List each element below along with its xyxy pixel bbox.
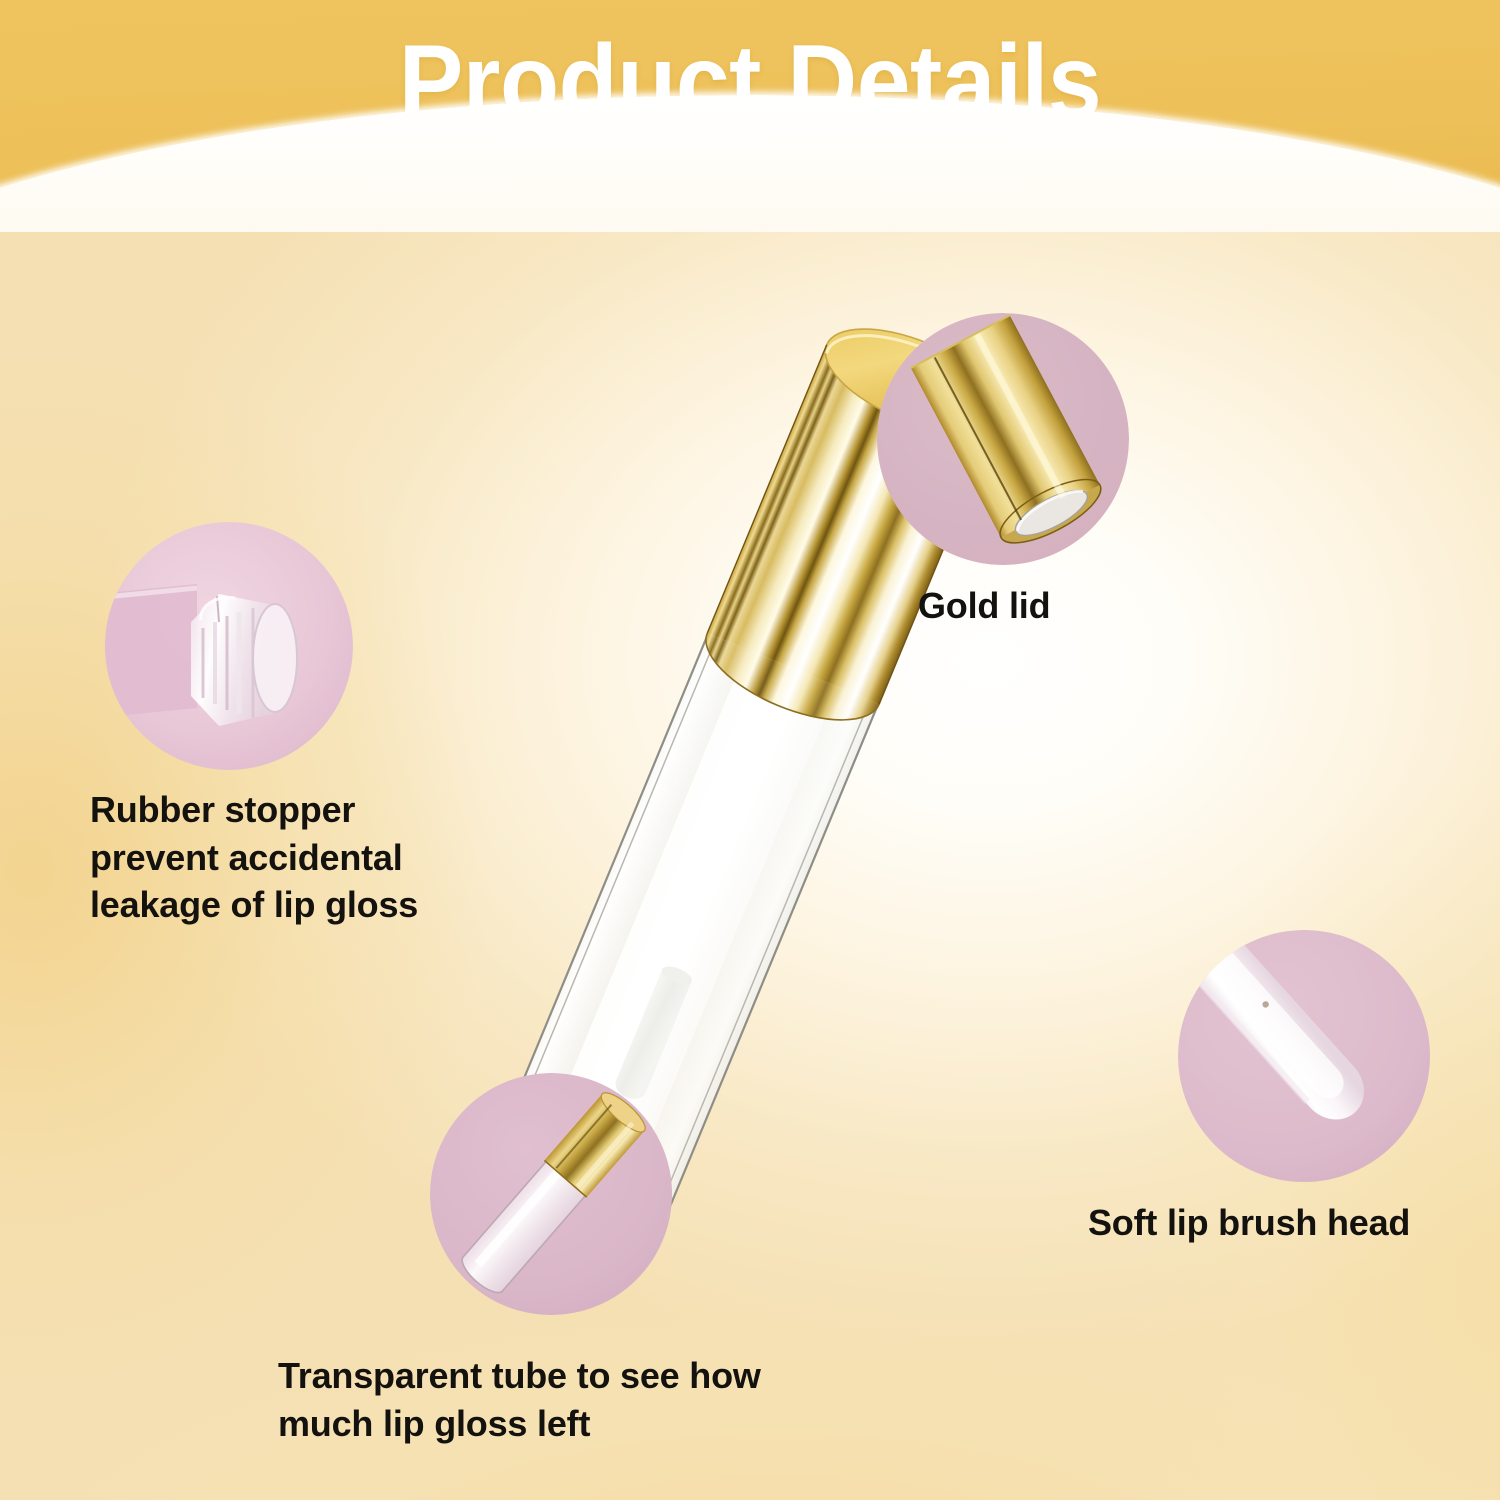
rubber-stopper-icon [105,522,353,770]
callout-soft-lip-brush-head [1178,930,1431,1183]
callout-gold-lid [877,313,1129,565]
callout-rubber-stopper [105,522,353,770]
brush-head-icon [1178,930,1431,1183]
product-details-infographic: Product Details [0,0,1500,1500]
callout-label-gold-lid: Gold lid [918,582,1238,630]
callout-transparent-tube [430,1073,673,1316]
gold-lid-icon [877,313,1129,565]
callout-label-transparent-tube: Transparent tube to see how much lip glo… [278,1352,918,1447]
callout-label-soft-lip-brush-head: Soft lip brush head [1088,1199,1488,1247]
callout-label-rubber-stopper: Rubber stopper prevent accidental leakag… [90,786,520,929]
header-banner: Product Details [0,0,1500,232]
mini-tube-icon [430,1073,673,1316]
